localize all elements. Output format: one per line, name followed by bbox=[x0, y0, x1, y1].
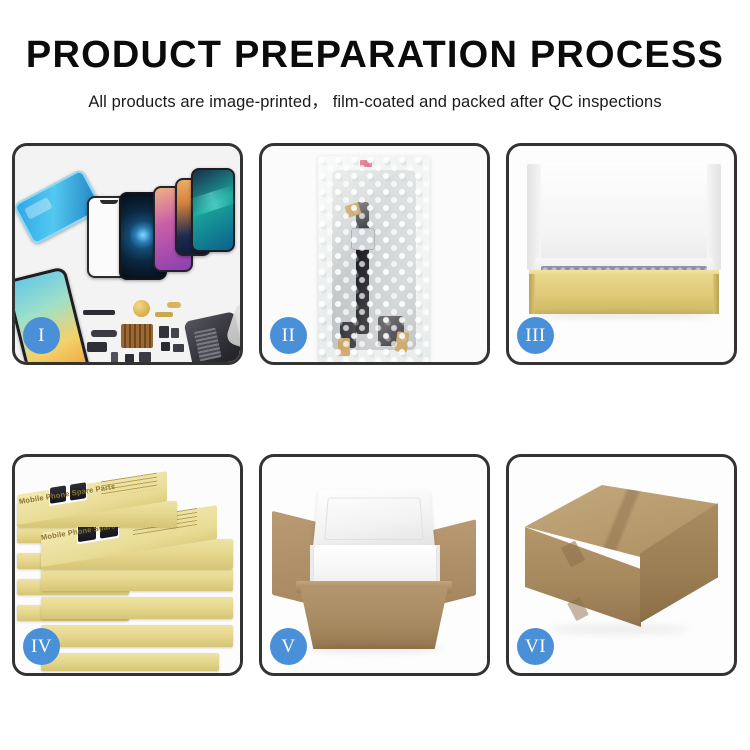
page-header: PRODUCT PREPARATION PROCESS All products… bbox=[0, 0, 750, 112]
foam-box-lid bbox=[313, 490, 436, 550]
spare-parts-scatter bbox=[81, 296, 240, 362]
gold-tray-box bbox=[529, 274, 719, 314]
teal-phone bbox=[191, 168, 235, 252]
step-badge-1: I bbox=[23, 317, 60, 354]
step-panel-1[interactable]: I bbox=[12, 143, 243, 365]
page-title: PRODUCT PREPARATION PROCESS bbox=[0, 36, 750, 76]
page-subtitle: All products are image-printed， film-coa… bbox=[0, 88, 750, 112]
carton-body bbox=[300, 587, 448, 649]
bubble-wrapped-package bbox=[318, 156, 430, 362]
step-panel-4[interactable]: Mobile Phone Spare Parts Mobile Phone Sp… bbox=[12, 454, 243, 676]
step-badge-6: VI bbox=[517, 628, 554, 665]
step-badge-5: V bbox=[270, 628, 307, 665]
step-badge-4: IV bbox=[23, 628, 60, 665]
step-badge-3: III bbox=[517, 317, 554, 354]
step-panel-6[interactable]: VI bbox=[506, 454, 737, 676]
process-steps-grid: I II bbox=[12, 143, 738, 676]
step-panel-2[interactable]: II bbox=[259, 143, 490, 365]
step-panel-5[interactable]: V bbox=[259, 454, 490, 676]
step-panel-3[interactable]: III bbox=[506, 143, 737, 365]
step-badge-2: II bbox=[270, 317, 307, 354]
